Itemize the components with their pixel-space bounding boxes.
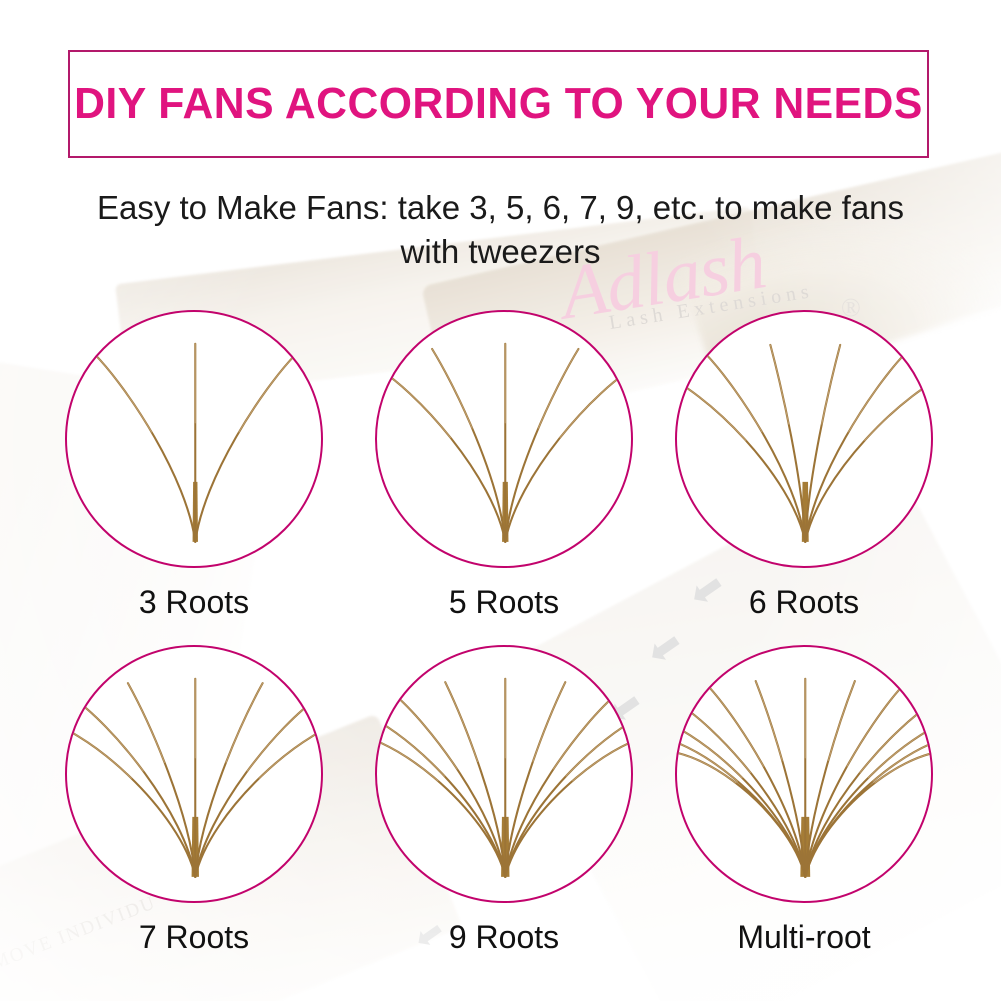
lash-strand-tip xyxy=(805,354,905,542)
lash-fan-illustration xyxy=(67,647,321,901)
lash-strand-tip xyxy=(95,354,196,542)
fan-circle xyxy=(375,645,633,903)
fan-label: 3 Roots xyxy=(60,584,328,621)
lash-strand xyxy=(706,354,806,542)
lash-strand xyxy=(432,349,505,542)
lash-strand-tip xyxy=(377,364,505,541)
fan-label: 7 Roots xyxy=(60,919,328,956)
lash-strand xyxy=(505,364,631,541)
lash-strand xyxy=(677,734,805,877)
lash-strand xyxy=(95,354,196,542)
fan-label: 6 Roots xyxy=(670,584,938,621)
lash-strand-tip xyxy=(70,696,195,877)
lash-strand xyxy=(70,696,195,877)
lash-strand xyxy=(377,364,505,541)
lash-strand-tip xyxy=(805,715,931,877)
lash-strand-tip xyxy=(770,345,805,542)
lash-strand xyxy=(805,734,931,877)
lash-strand-tip xyxy=(677,734,805,877)
lash-strand-tip xyxy=(505,692,618,876)
lash-strand-tip xyxy=(805,345,840,542)
lash-strand-tip xyxy=(432,349,505,542)
fan-cell-7-roots: 7 Roots xyxy=(60,645,328,956)
lash-strand xyxy=(505,692,618,876)
lash-strand xyxy=(505,349,578,542)
fan-label: 9 Roots xyxy=(370,919,638,956)
fan-label: Multi-root xyxy=(670,919,938,956)
page-title: DIY FANS ACCORDING TO YOUR NEEDS xyxy=(74,79,923,129)
fan-label: 5 Roots xyxy=(370,584,638,621)
subtitle-line-1: Easy to Make Fans: take 3, 5, 6, 7, 9, e… xyxy=(0,186,1001,230)
fan-circle xyxy=(375,310,633,568)
lash-strand xyxy=(805,715,931,877)
fan-circle xyxy=(675,645,933,903)
title-banner: DIY FANS ACCORDING TO YOUR NEEDS xyxy=(68,50,929,158)
lash-strand-tip xyxy=(805,681,855,877)
lash-strand-tip xyxy=(756,681,806,877)
fan-circle xyxy=(65,310,323,568)
lash-fan-illustration xyxy=(377,647,631,901)
lash-strand-tip xyxy=(505,349,578,542)
lash-strand xyxy=(805,354,905,542)
fan-cell-9-roots: 9 Roots xyxy=(370,645,638,956)
lash-strand-tip xyxy=(195,696,320,877)
lash-strand xyxy=(805,681,855,877)
fan-cell-5-roots: 5 Roots xyxy=(370,310,638,621)
lash-fan-illustration xyxy=(677,647,931,901)
lash-strand xyxy=(195,354,296,542)
lash-strand xyxy=(195,696,320,877)
fan-cell-13-roots: Multi-root xyxy=(670,645,938,956)
lash-fan-illustration xyxy=(677,312,931,566)
lash-strand-tip xyxy=(706,354,806,542)
lash-strand-tip xyxy=(195,354,296,542)
fan-cell-3-roots: 3 Roots xyxy=(60,310,328,621)
lash-strand-tip xyxy=(505,364,631,541)
fan-circle xyxy=(65,645,323,903)
lash-strand-tip xyxy=(377,731,505,877)
lash-strand xyxy=(770,345,805,542)
subtitle: Easy to Make Fans: take 3, 5, 6, 7, 9, e… xyxy=(0,186,1001,274)
lash-strand xyxy=(805,372,931,542)
lash-strand xyxy=(805,345,840,542)
fan-cell-6-roots: 6 Roots xyxy=(670,310,938,621)
lash-strand xyxy=(377,731,505,877)
fan-circle xyxy=(675,310,933,568)
lash-strand xyxy=(756,681,806,877)
lash-fan-illustration xyxy=(377,312,631,566)
lash-strand xyxy=(505,731,631,877)
lash-fan-illustration xyxy=(67,312,321,566)
lash-strand-tip xyxy=(377,709,505,877)
lash-strand-tip xyxy=(677,715,805,877)
lash-strand-tip xyxy=(805,734,931,877)
lash-strand xyxy=(377,709,505,877)
lash-strand-tip xyxy=(505,709,631,877)
lash-strand xyxy=(392,692,505,876)
subtitle-line-2: with tweezers xyxy=(0,230,1001,274)
lash-strand-tip xyxy=(392,692,505,876)
